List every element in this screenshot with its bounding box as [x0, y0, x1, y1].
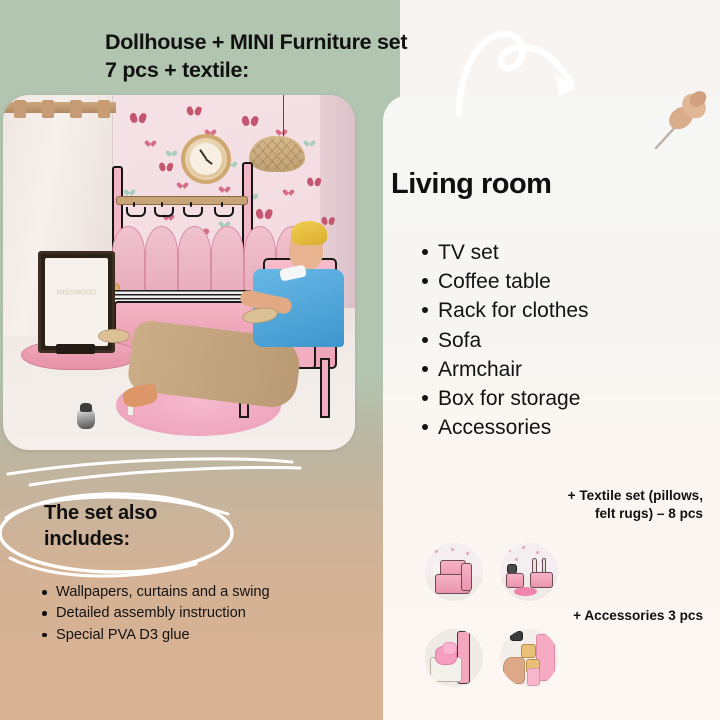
pushpin-icon	[648, 82, 720, 154]
list-item: Wallpapers, curtains and a swing	[56, 582, 386, 603]
list-item: Box for storage	[438, 384, 720, 413]
list-item: Armchair	[438, 355, 720, 384]
accessories-label: + Accessories 3 pcs	[508, 608, 703, 623]
toy-cat	[77, 407, 95, 429]
list-item: Coffee table	[438, 267, 720, 296]
room-title: Living room	[391, 168, 551, 201]
textile-label-line2: felt rugs) – 8 pcs	[508, 505, 703, 523]
list-item: TV set	[438, 238, 720, 267]
left-heading-line2: includes:	[44, 526, 274, 552]
list-item: Rack for clothes	[438, 296, 720, 325]
left-section-heading: The set also includes:	[44, 500, 274, 553]
tv-logo-text: MISSWOOD	[57, 289, 97, 296]
textile-set-label: + Textile set (pillows, felt rugs) – 8 p…	[508, 487, 703, 524]
wall-clock	[181, 134, 231, 184]
page-title-line2: 7 pcs + textile:	[105, 56, 485, 84]
product-info-card: Dollhouse + MINI Furniture set 7 pcs + t…	[0, 0, 720, 720]
list-item: Accessories	[438, 413, 720, 442]
storage-box-with-pillows-thumbnail[interactable]	[425, 629, 483, 687]
textile-label-line1: + Textile set (pillows,	[508, 487, 703, 505]
page-title-line1: Dollhouse + MINI Furniture set	[105, 28, 485, 56]
dollhouse-living-room-photo: MISSWOOD	[3, 95, 355, 450]
curved-arrow-icon	[455, 22, 605, 122]
living-room-set-thumbnail[interactable]	[500, 543, 558, 601]
list-item: Special PVA D3 glue	[56, 625, 386, 646]
left-includes-list: Wallpapers, curtains and a swing Detaile…	[35, 582, 386, 646]
list-item: Detailed assembly instruction	[56, 603, 386, 624]
list-item: Sofa	[438, 326, 720, 355]
page-title: Dollhouse + MINI Furniture set 7 pcs + t…	[105, 28, 485, 85]
accessories-thumbnail[interactable]	[500, 629, 558, 687]
armchair-with-pillows-thumbnail[interactable]	[425, 543, 483, 601]
left-heading-line1: The set also	[44, 500, 274, 526]
room-contents-list: TV set Coffee table Rack for clothes Sof…	[418, 238, 720, 442]
